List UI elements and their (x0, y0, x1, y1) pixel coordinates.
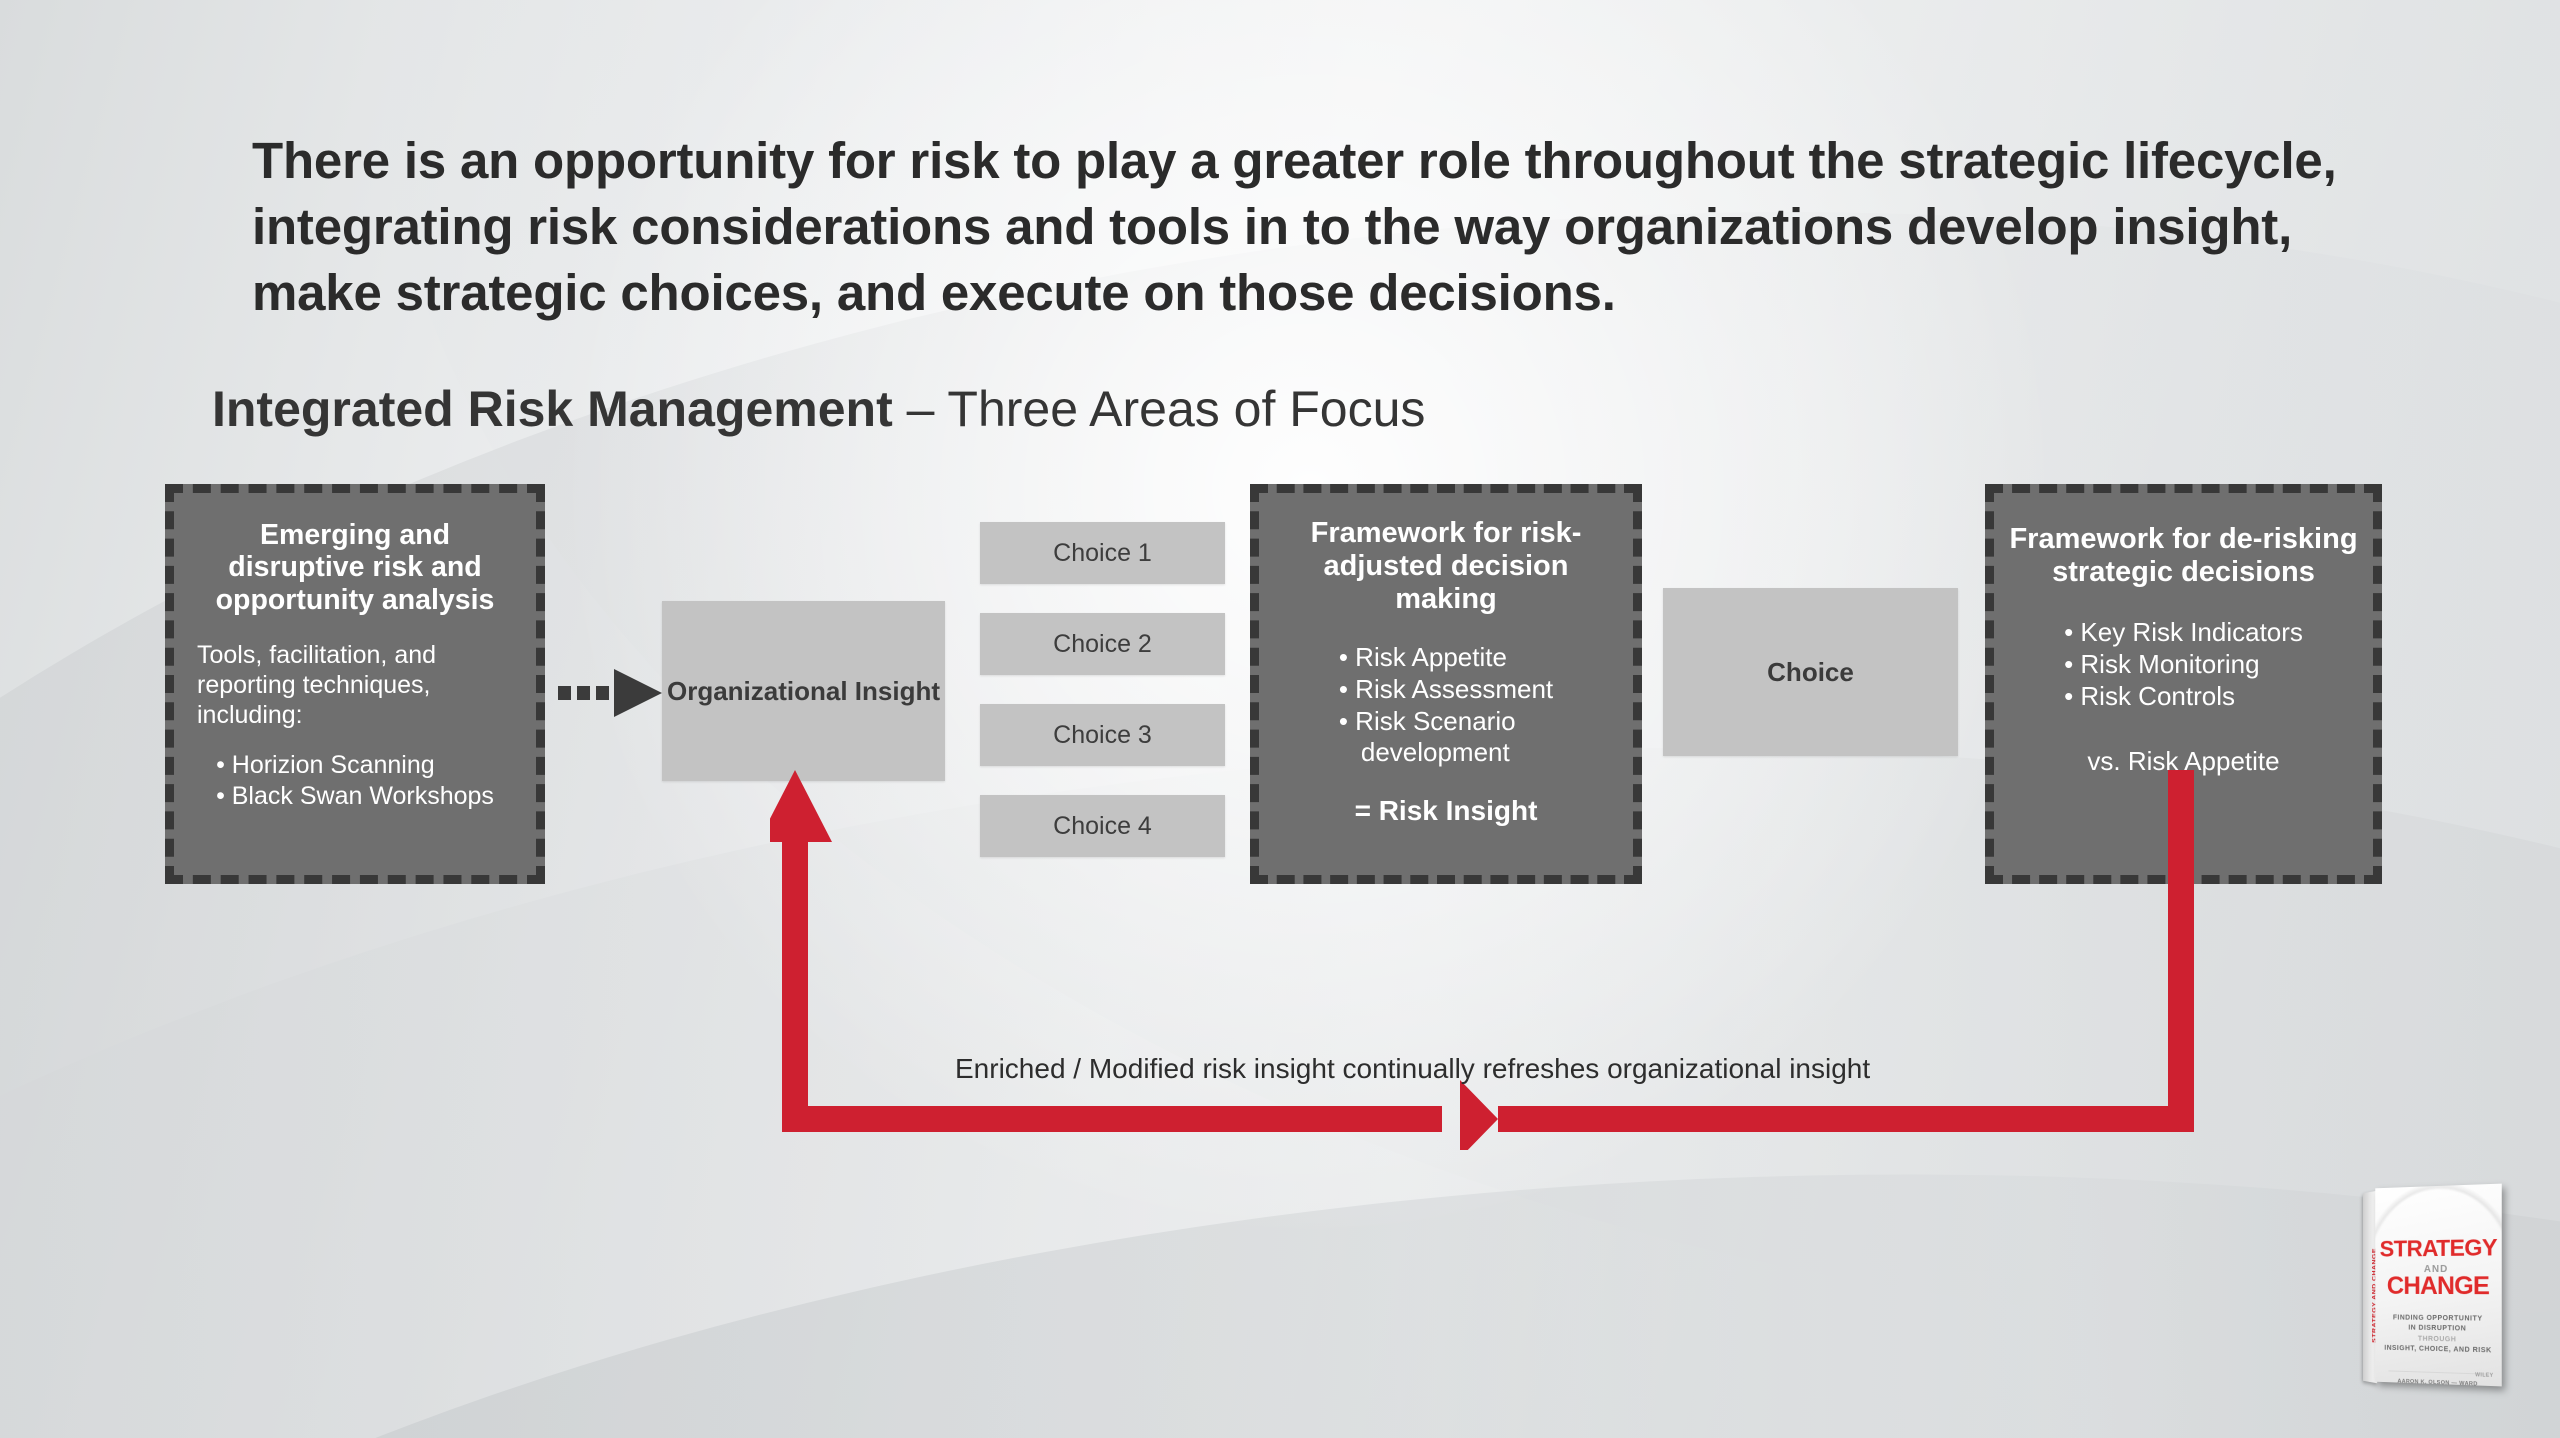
headline-line-2: integrating risk considerations and tool… (252, 194, 2362, 260)
book-title-line2-row: ANDCHANGE (2375, 1260, 2501, 1298)
panel-emerging-bullets: • Horizion Scanning • Black Swan Worksho… (216, 750, 494, 811)
panel-framework-risk-bullets: • Risk Appetite • Risk Assessment • Risk… (1339, 642, 1553, 769)
list-item: • Risk Controls (2064, 681, 2303, 713)
panel-emerging-title: Emerging and disruptive risk and opportu… (188, 503, 522, 616)
book-publisher: WILEY (2475, 1372, 2493, 1379)
panel-emerging-disruptive-risk[interactable]: Emerging and disruptive risk and opportu… (165, 484, 545, 884)
list-item: • Key Risk Indicators (2064, 617, 2303, 649)
box-choice-label: Choice (1767, 657, 1854, 688)
list-item: • Black Swan Workshops (216, 781, 494, 812)
book-subtitle-line4: INSIGHT, CHOICE, AND RISK (2375, 1344, 2501, 1358)
panel-emerging-subtext: Tools, facilitation, and reporting techn… (188, 616, 522, 730)
book-cover-image: STRATEGY AND CHANGE STRATEGY ANDCHANGE F… (2355, 1186, 2515, 1391)
list-item: • Horizion Scanning (216, 750, 494, 781)
headline: There is an opportunity for risk to play… (252, 128, 2362, 326)
page-title-bold: Integrated Risk Management (212, 381, 893, 437)
box-choice[interactable]: Choice (1663, 588, 1958, 756)
headline-line-1: There is an opportunity for risk to play… (252, 128, 2362, 194)
feedback-arrow-label: Enriched / Modified risk insight continu… (955, 1053, 1870, 1085)
panel-framework-risk-title: Framework for risk-adjusted decision mak… (1273, 503, 1619, 616)
choice-box-2[interactable]: Choice 2 (980, 613, 1225, 675)
choice-box-3[interactable]: Choice 3 (980, 704, 1225, 766)
choice-box-1[interactable]: Choice 1 (980, 522, 1225, 584)
headline-line-3: make strategic choices, and execute on t… (252, 260, 2362, 326)
book-authors: AARON K. OLSON — WARD CHENG RICHARD WAHL… (2389, 1370, 2488, 1386)
box-organizational-insight-label: Organizational Insight (667, 675, 940, 708)
list-item: • Risk Scenario (1339, 706, 1553, 738)
choice-box-2-label: Choice 2 (1053, 630, 1152, 659)
dotted-arrow-icon (558, 667, 666, 719)
slide-canvas: There is an opportunity for risk to play… (0, 0, 2560, 1438)
box-organizational-insight[interactable]: Organizational Insight (662, 601, 945, 781)
feedback-arrow-icon (770, 770, 2210, 1150)
list-item: • Risk Appetite (1339, 642, 1553, 674)
book-title-line2: CHANGE (2387, 1272, 2489, 1301)
panel-framework-derisk-title: Framework for de-risking strategic decis… (2008, 503, 2359, 589)
book-front-cover: STRATEGY ANDCHANGE FINDING OPPORTUNITY I… (2375, 1184, 2501, 1387)
panel-framework-derisk-bullets: • Key Risk Indicators • Risk Monitoring … (2064, 617, 2303, 712)
page-title: Integrated Risk Management – Three Areas… (212, 380, 1425, 438)
list-item: • Risk Assessment (1339, 674, 1553, 706)
page-title-light: – Three Areas of Focus (893, 381, 1426, 437)
choice-box-3-label: Choice 3 (1053, 721, 1152, 750)
choice-box-1-label: Choice 1 (1053, 539, 1152, 568)
list-item-continuation: development (1339, 737, 1553, 769)
book-subtitle: FINDING OPPORTUNITY IN DISRUPTION THROUG… (2375, 1313, 2501, 1357)
book-cover-swirl (2375, 1184, 2501, 1257)
book-authors-line1: AARON K. OLSON — WARD CHENG (2389, 1376, 2488, 1387)
list-item: • Risk Monitoring (2064, 649, 2303, 681)
